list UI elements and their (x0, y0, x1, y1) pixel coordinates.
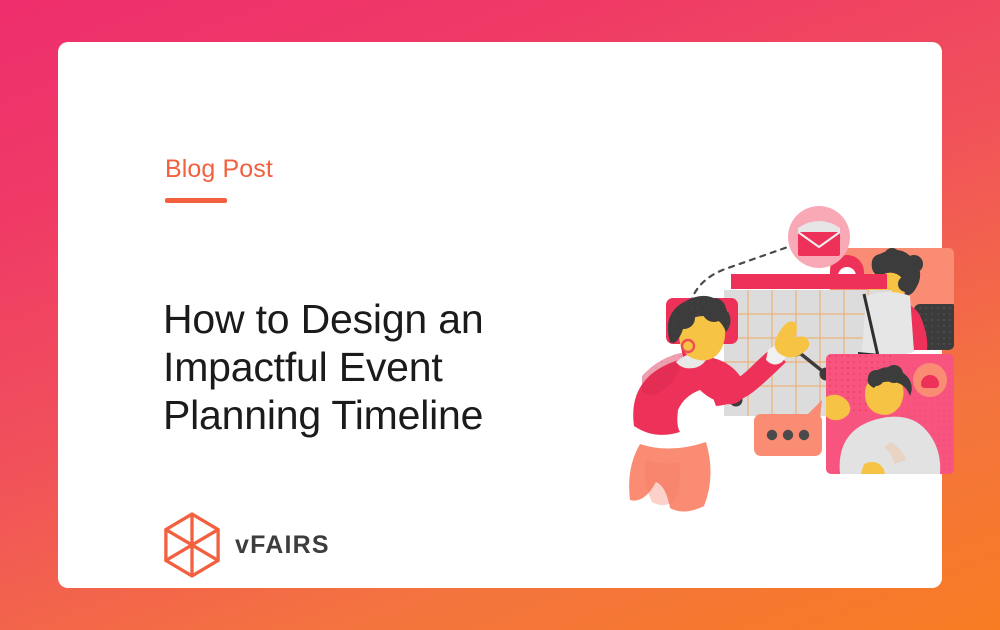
headline-line-1: How to Design an (163, 295, 593, 343)
content-card: Blog Post How to Design an Impactful Eve… (58, 42, 942, 588)
headline-line-3: Planning Timeline (163, 391, 593, 439)
eyebrow-underline (165, 198, 227, 203)
vfairs-logo: vFAIRS (163, 512, 330, 578)
eyebrow-label: Blog Post (165, 157, 273, 182)
headset-badge-bottom (913, 363, 947, 397)
page-title: How to Design an Impactful Event Plannin… (163, 295, 593, 439)
poster-stage: Blog Post How to Design an Impactful Eve… (0, 0, 1000, 630)
event-planning-illustration (618, 192, 978, 522)
headline-line-2: Impactful Event (163, 343, 593, 391)
vfairs-wordmark: vFAIRS (235, 531, 330, 560)
email-badge (788, 206, 850, 268)
video-panel-bottom (824, 354, 954, 486)
hexagon-cube-icon (163, 512, 221, 578)
